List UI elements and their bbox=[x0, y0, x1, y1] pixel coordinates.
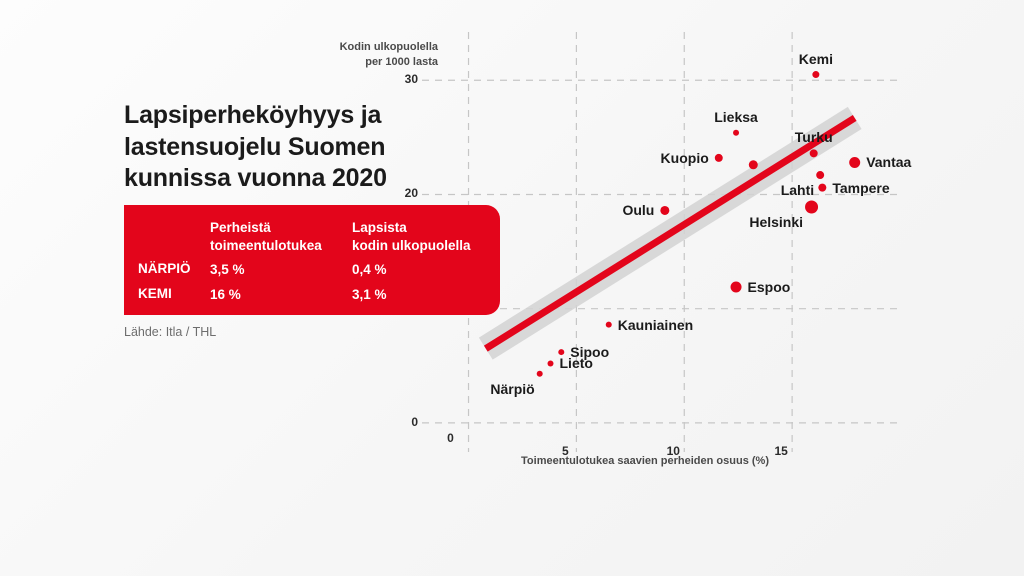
fact-row-families: 3,5 % bbox=[210, 261, 352, 279]
point-label: Helsinki bbox=[749, 214, 803, 230]
point-label: Espoo bbox=[748, 279, 791, 295]
fact-table: Perheistä toimeentulotukea Lapsista kodi… bbox=[124, 205, 500, 315]
fact-row-name: NÄRPIÖ bbox=[124, 261, 210, 276]
point-label: Närpiö bbox=[490, 381, 534, 397]
fact-row-children: 0,4 % bbox=[352, 261, 500, 279]
table-row: KEMI 16 % 3,1 % bbox=[124, 286, 500, 304]
data-point[interactable] bbox=[606, 322, 612, 328]
point-label: Kauniainen bbox=[618, 317, 693, 333]
data-point[interactable] bbox=[548, 360, 554, 366]
point-label: Lieto bbox=[560, 355, 593, 371]
fact-row-children: 3,1 % bbox=[352, 286, 500, 304]
infographic-root: Kodin ulkopuolella per 1000 lasta Toimee… bbox=[0, 0, 1024, 576]
fact-table-header-row: Perheistä toimeentulotukea Lapsista kodi… bbox=[124, 219, 500, 254]
data-point[interactable] bbox=[537, 371, 543, 377]
data-point[interactable] bbox=[558, 349, 564, 355]
data-point[interactable] bbox=[805, 201, 818, 214]
data-point[interactable] bbox=[818, 184, 826, 192]
source-note: Lähde: Itla / THL bbox=[124, 325, 216, 339]
title-block: Lapsiperheköyhyys ja lastensuojelu Suome… bbox=[124, 100, 504, 195]
point-label: Vantaa bbox=[866, 154, 911, 170]
fact-row-name: KEMI bbox=[124, 286, 210, 301]
y-tick-label: 0 bbox=[378, 415, 418, 429]
point-label: Oulu bbox=[622, 202, 654, 218]
data-point[interactable] bbox=[812, 71, 819, 78]
point-label: Kuopio bbox=[661, 150, 709, 166]
data-point[interactable] bbox=[816, 171, 824, 179]
x-tick-label: 10 bbox=[653, 444, 693, 458]
page-title: Lapsiperheköyhyys ja lastensuojelu Suome… bbox=[124, 100, 504, 195]
fact-table-header-children: Lapsista kodin ulkopuolella bbox=[352, 219, 500, 254]
point-label: Turku bbox=[795, 129, 833, 145]
x-axis-title: Toimeentulotukea saavien perheiden osuus… bbox=[420, 455, 870, 467]
x-tick-label: 5 bbox=[545, 444, 585, 458]
y-tick-label: 30 bbox=[378, 72, 418, 86]
x-tick-label: 15 bbox=[761, 444, 801, 458]
data-point[interactable] bbox=[810, 149, 818, 157]
point-label: Lahti bbox=[781, 182, 814, 198]
table-row: NÄRPIÖ 3,5 % 0,4 % bbox=[124, 261, 500, 279]
point-label: Lieksa bbox=[714, 109, 758, 125]
x-tick-label: 0 bbox=[431, 431, 471, 445]
fact-row-families: 16 % bbox=[210, 286, 352, 304]
data-point[interactable] bbox=[731, 281, 742, 292]
point-label: Kemi bbox=[799, 51, 833, 67]
data-point[interactable] bbox=[660, 206, 669, 215]
data-point[interactable] bbox=[749, 160, 758, 169]
data-point[interactable] bbox=[715, 154, 723, 162]
data-point[interactable] bbox=[733, 130, 739, 136]
y-axis-title: Kodin ulkopuolella per 1000 lasta bbox=[318, 40, 438, 70]
point-label: Tampere bbox=[832, 180, 889, 196]
data-point[interactable] bbox=[849, 157, 860, 168]
fact-table-header-families: Perheistä toimeentulotukea bbox=[210, 219, 352, 254]
